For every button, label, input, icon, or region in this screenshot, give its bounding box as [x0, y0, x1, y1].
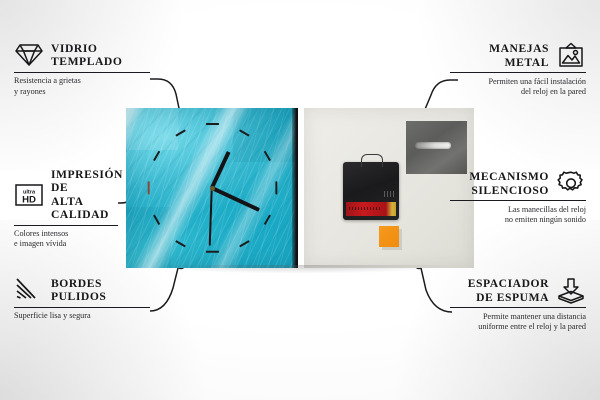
- clock-back-panel: [304, 108, 474, 268]
- hanger-slot: [415, 142, 452, 149]
- feature-rule: [14, 72, 150, 73]
- clock-face-front: [126, 108, 298, 268]
- diamond-icon: [14, 42, 44, 68]
- mechanism-label-bar: [349, 207, 380, 211]
- feature-title: ESPACIADOR DE ESPUMA: [468, 277, 549, 304]
- polished-edges-icon: [14, 277, 44, 303]
- feature-description: Resistencia a grietas y rayones: [14, 76, 150, 97]
- feature-espaciador-espuma: ESPACIADOR DE ESPUMA Permite mantener un…: [450, 277, 586, 332]
- foam-spacer: [379, 226, 399, 247]
- product-image: [126, 108, 474, 268]
- feature-header: MECANISMO SILENCIOSO: [450, 170, 586, 197]
- foam-spacer-icon: [556, 277, 586, 304]
- feature-rule: [14, 307, 150, 308]
- feature-title: VIDRIO TEMPLADO: [51, 42, 122, 69]
- ultra-hd-icon: ultra HD: [14, 182, 44, 208]
- mechanism-loop: [361, 154, 383, 168]
- feature-title: MANEJAS METAL: [489, 42, 549, 69]
- product-shadow: [126, 265, 474, 277]
- feature-title: IMPRESIÓN DE ALTA CALIDAD: [51, 168, 123, 222]
- feature-header: BORDES PULIDOS: [14, 277, 150, 304]
- glass-edge: [292, 108, 298, 268]
- feature-description: Las manecillas del reloj no emiten ningú…: [450, 205, 586, 226]
- ultra-hd-icon-large-text: HD: [22, 194, 36, 205]
- feature-description: Permiten una fácil instalación del reloj…: [450, 77, 586, 98]
- feature-header: VIDRIO TEMPLADO: [14, 42, 150, 69]
- feature-rule: [450, 307, 586, 308]
- feature-rule: [14, 225, 118, 226]
- feature-rule: [450, 200, 586, 201]
- feature-bordes-pulidos: BORDES PULIDOS Superficie lisa y segura: [14, 277, 150, 322]
- second-hand: [209, 188, 213, 246]
- feature-mecanismo-silencioso: MECANISMO SILENCIOSO Las manecillas del …: [450, 170, 586, 225]
- feature-description: Permite mantener una distancia uniforme …: [450, 312, 586, 333]
- gear-icon: [556, 170, 586, 197]
- hanging-frame-icon: [556, 42, 586, 69]
- clock-hands: [126, 108, 298, 268]
- feature-header: MANEJAS METAL: [450, 42, 586, 69]
- mechanism-label: [346, 202, 395, 216]
- clock-hub: [210, 186, 215, 191]
- infographic-canvas: VIDRIO TEMPLADO Resistencia a grietas y …: [0, 0, 600, 400]
- minute-hand: [211, 186, 260, 212]
- feature-rule: [450, 72, 586, 73]
- hour-hand: [210, 151, 231, 189]
- mechanism-box: [343, 162, 399, 220]
- feature-vidrio-templado: VIDRIO TEMPLADO Resistencia a grietas y …: [14, 42, 150, 97]
- feature-manejas-metal: MANEJAS METAL Permiten una fácil instala…: [450, 42, 586, 97]
- feature-title: BORDES PULIDOS: [51, 277, 106, 304]
- mechanism-dots: [384, 191, 395, 197]
- feature-description: Colores intensos e imagen vívida: [14, 229, 118, 250]
- feature-header: ultra HD IMPRESIÓN DE ALTA CALIDAD: [14, 168, 118, 222]
- feature-description: Superficie lisa y segura: [14, 311, 150, 321]
- feature-impresion-alta-calidad: ultra HD IMPRESIÓN DE ALTA CALIDAD Color…: [14, 168, 118, 250]
- feature-title: MECANISMO SILENCIOSO: [469, 170, 549, 197]
- hanger-plate: [406, 121, 467, 174]
- feature-header: ESPACIADOR DE ESPUMA: [450, 277, 586, 304]
